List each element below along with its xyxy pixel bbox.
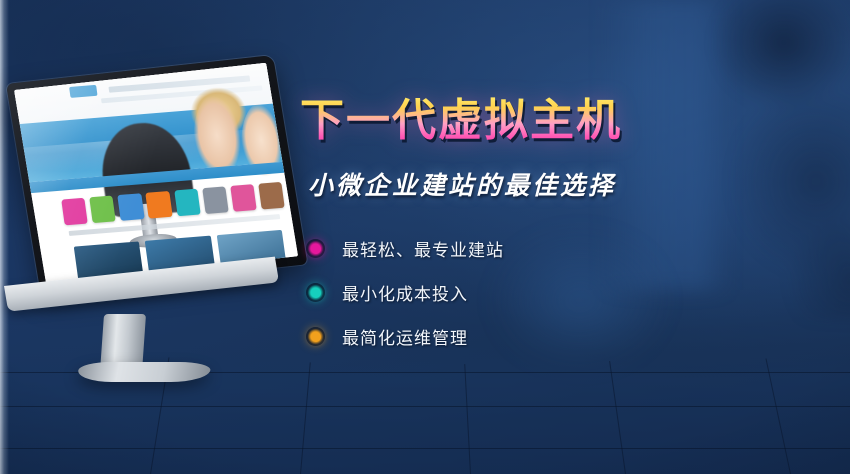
promo-banner: 下一代虚拟主机 小微企业建站的最佳选择 最轻松、最专业建站 最小化成本投入 最简… [0,0,850,474]
vignette-overlay [0,0,850,474]
